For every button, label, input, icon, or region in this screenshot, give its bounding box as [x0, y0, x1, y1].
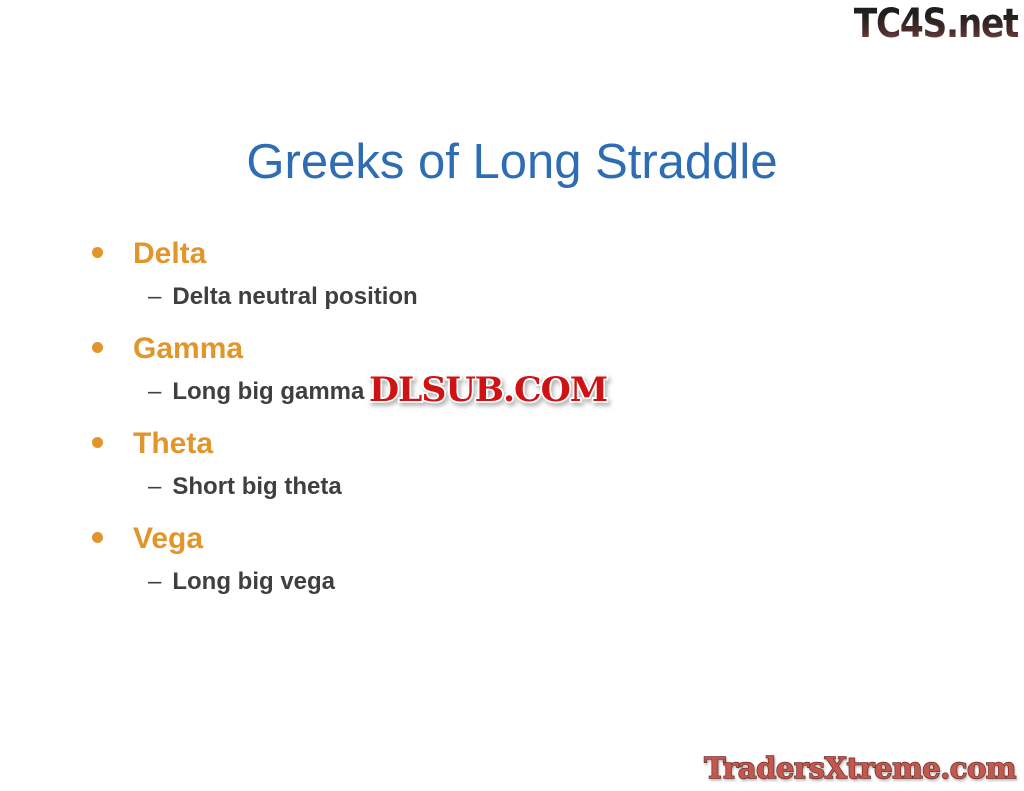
- dash-icon: –: [148, 282, 161, 312]
- bullet-dot-icon: [92, 247, 103, 258]
- dash-icon: –: [148, 377, 161, 407]
- bullet-label-delta: Delta: [133, 236, 206, 272]
- dlsub-watermark: DLSUB.COM: [369, 370, 607, 410]
- slide-canvas: TC4S.net Greeks of Long Straddle Delta –…: [0, 0, 1024, 791]
- sub-bullet-label-theta: Short big theta: [172, 472, 341, 502]
- tradersxtreme-logo: TradersXtreme.com: [704, 751, 1016, 785]
- bullet-group-theta: Theta – Short big theta: [92, 426, 952, 521]
- sub-bullet-label-delta: Delta neutral position: [172, 282, 417, 312]
- bullet-group-delta: Delta – Delta neutral position: [92, 236, 952, 331]
- sub-bullet-item-delta: – Delta neutral position: [92, 282, 952, 331]
- bullet-item-theta: Theta: [92, 426, 952, 472]
- sub-bullet-item-vega: – Long big vega: [92, 567, 952, 616]
- tc4s-net-logo: TC4S.net: [854, 2, 1018, 46]
- bullet-group-vega: Vega – Long big vega: [92, 521, 952, 616]
- dash-icon: –: [148, 472, 161, 502]
- sub-bullet-item-theta: – Short big theta: [92, 472, 952, 521]
- bullet-list: Delta – Delta neutral position Gamma – L…: [92, 236, 952, 616]
- bullet-label-gamma: Gamma: [133, 331, 243, 367]
- page-title: Greeks of Long Straddle: [0, 133, 1024, 191]
- bullet-item-delta: Delta: [92, 236, 952, 282]
- bullet-item-vega: Vega: [92, 521, 952, 567]
- bullet-label-vega: Vega: [133, 521, 203, 557]
- sub-bullet-label-gamma: Long big gamma: [172, 377, 364, 407]
- bullet-dot-icon: [92, 342, 103, 353]
- sub-bullet-label-vega: Long big vega: [172, 567, 335, 597]
- dlsub-watermark-text: DLSUB.COM: [369, 370, 607, 410]
- bullet-dot-icon: [92, 532, 103, 543]
- dash-icon: –: [148, 567, 161, 597]
- bullet-label-theta: Theta: [133, 426, 213, 462]
- bullet-dot-icon: [92, 437, 103, 448]
